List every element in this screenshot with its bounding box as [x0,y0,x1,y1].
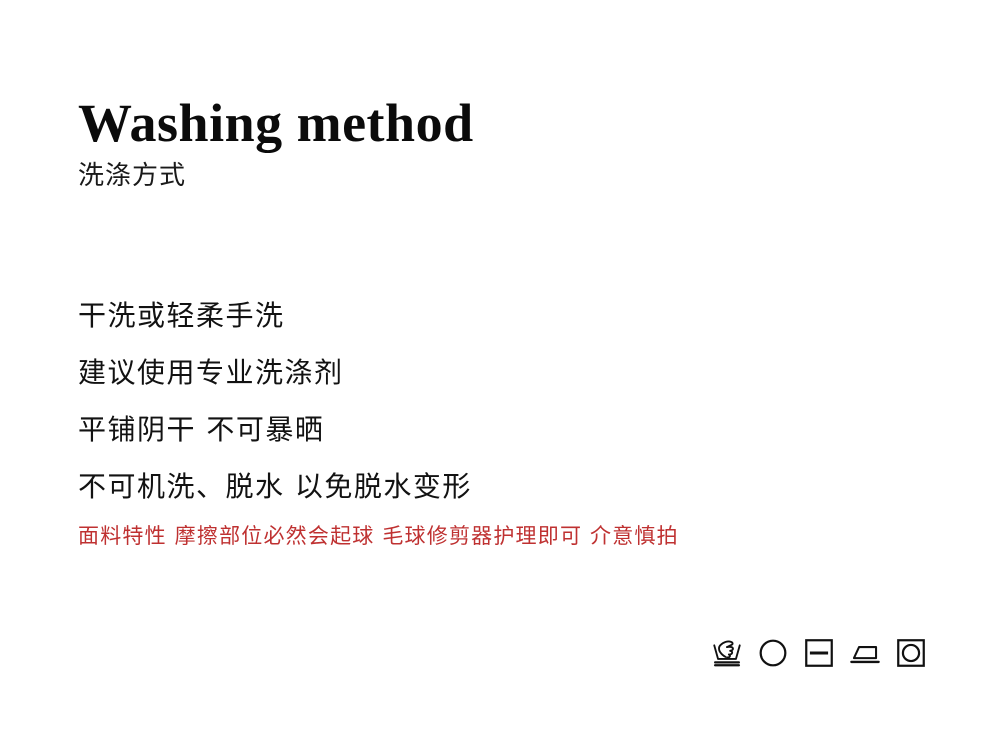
care-label-page: Washing method 洗涤方式 干洗或轻柔手洗 建议使用专业洗涤剂 平铺… [0,0,1000,749]
flat-dry-icon [802,636,836,670]
care-instruction-line: 平铺阴干 不可暴晒 [78,414,472,446]
fabric-notice-text: 面料特性 摩擦部位必然会起球 毛球修剪器护理即可 介意慎拍 [78,524,679,549]
iron-icon [848,636,882,670]
care-instruction-line: 建议使用专业洗涤剂 [78,357,472,389]
care-instruction-line: 干洗或轻柔手洗 [78,300,472,332]
care-instruction-line: 不可机洗、脱水 以免脱水变形 [78,471,472,503]
page-subtitle: 洗涤方式 [78,161,474,191]
tumble-dry-icon [894,636,928,670]
care-symbol-row [710,636,928,670]
dry-clean-icon [756,636,790,670]
care-instruction-list: 干洗或轻柔手洗 建议使用专业洗涤剂 平铺阴干 不可暴晒 不可机洗、脱水 以免脱水… [78,300,472,503]
page-title: Washing method [78,94,474,152]
hand-wash-icon [710,636,744,670]
header: Washing method 洗涤方式 [78,94,474,191]
